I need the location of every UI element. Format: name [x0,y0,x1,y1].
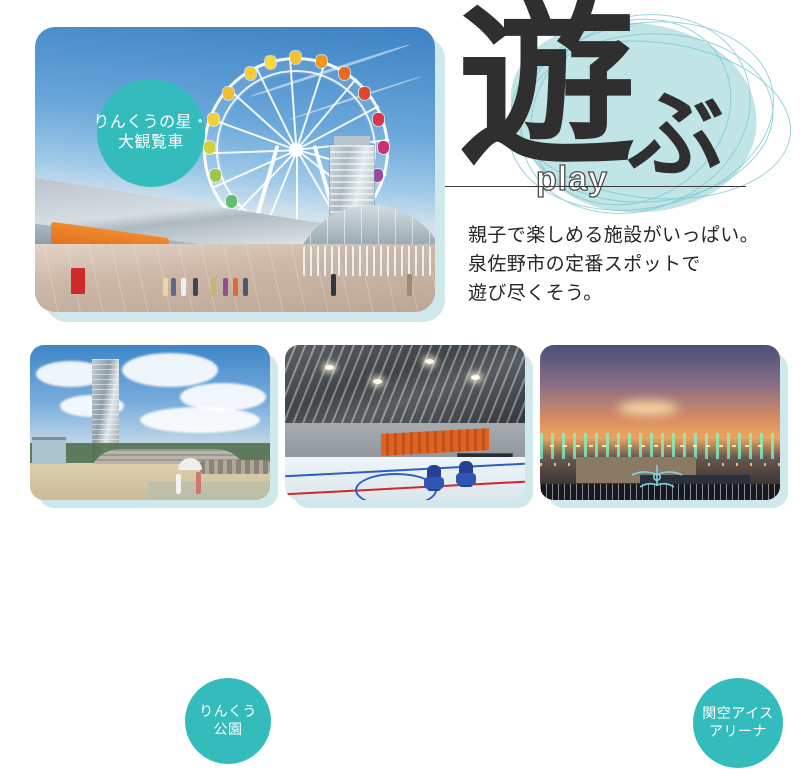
thumbnail-image-rinku-park [30,345,270,500]
mascot-character [427,465,441,491]
page-root: 遊 ぶ play 親子で楽しめる施設がいっぱい。 泉佐野市の定番スポットで 遊び… [0,0,800,515]
thumbnail-image-sky-view [540,345,780,500]
hero-badge-line-2: 大観覧車 [118,133,184,153]
thumbnail-badge-rinku-park[interactable]: りんくう 公園 [185,678,271,764]
badge-line-1: りんくう [199,703,257,721]
thumbnail-card-rinku-park[interactable]: りんくう 公園 [30,345,270,500]
title-block: 遊 ぶ play [440,0,800,210]
description-line-1: 親子で楽しめる施設がいっぱい。 [468,222,798,251]
thumbnail-image-ice-arena [285,345,525,500]
title-kanji: 遊 [458,0,636,176]
badge-line-2: 公園 [214,721,243,739]
thumbnail-card-sky-view[interactable]: 関空展望ホール スカイビュー [540,345,780,500]
hero-photo-image [35,27,435,312]
badge-line-1: 関空アイス [702,705,773,723]
thumbnail-card-ice-arena[interactable]: 関空アイス アリーナ [285,345,525,500]
thumbnail-badge-ice-arena[interactable]: 関空アイス アリーナ [693,678,783,768]
airplane-outline-icon [628,462,686,492]
title-rule [440,186,746,187]
title-kana: ぶ [628,88,724,184]
description-line-2: 泉佐野市の定番スポットで [468,251,798,280]
badge-line-2: アリーナ [709,723,767,741]
hero-badge-line-1: りんくうの星・ [93,113,208,133]
plaza-ground [35,244,435,312]
description-line-3: 遊び尽くそう。 [468,280,798,309]
title-romaji: play [536,160,608,199]
mascot-character [459,461,473,487]
description-text: 親子で楽しめる施設がいっぱい。 泉佐野市の定番スポットで 遊び尽くそう。 [468,222,798,309]
hero-photo-card[interactable]: りんくうの星・ 大観覧車 [35,27,435,312]
hero-badge[interactable]: りんくうの星・ 大観覧車 [97,79,205,187]
outdoor-chairs [303,246,431,276]
red-sign [71,268,85,294]
